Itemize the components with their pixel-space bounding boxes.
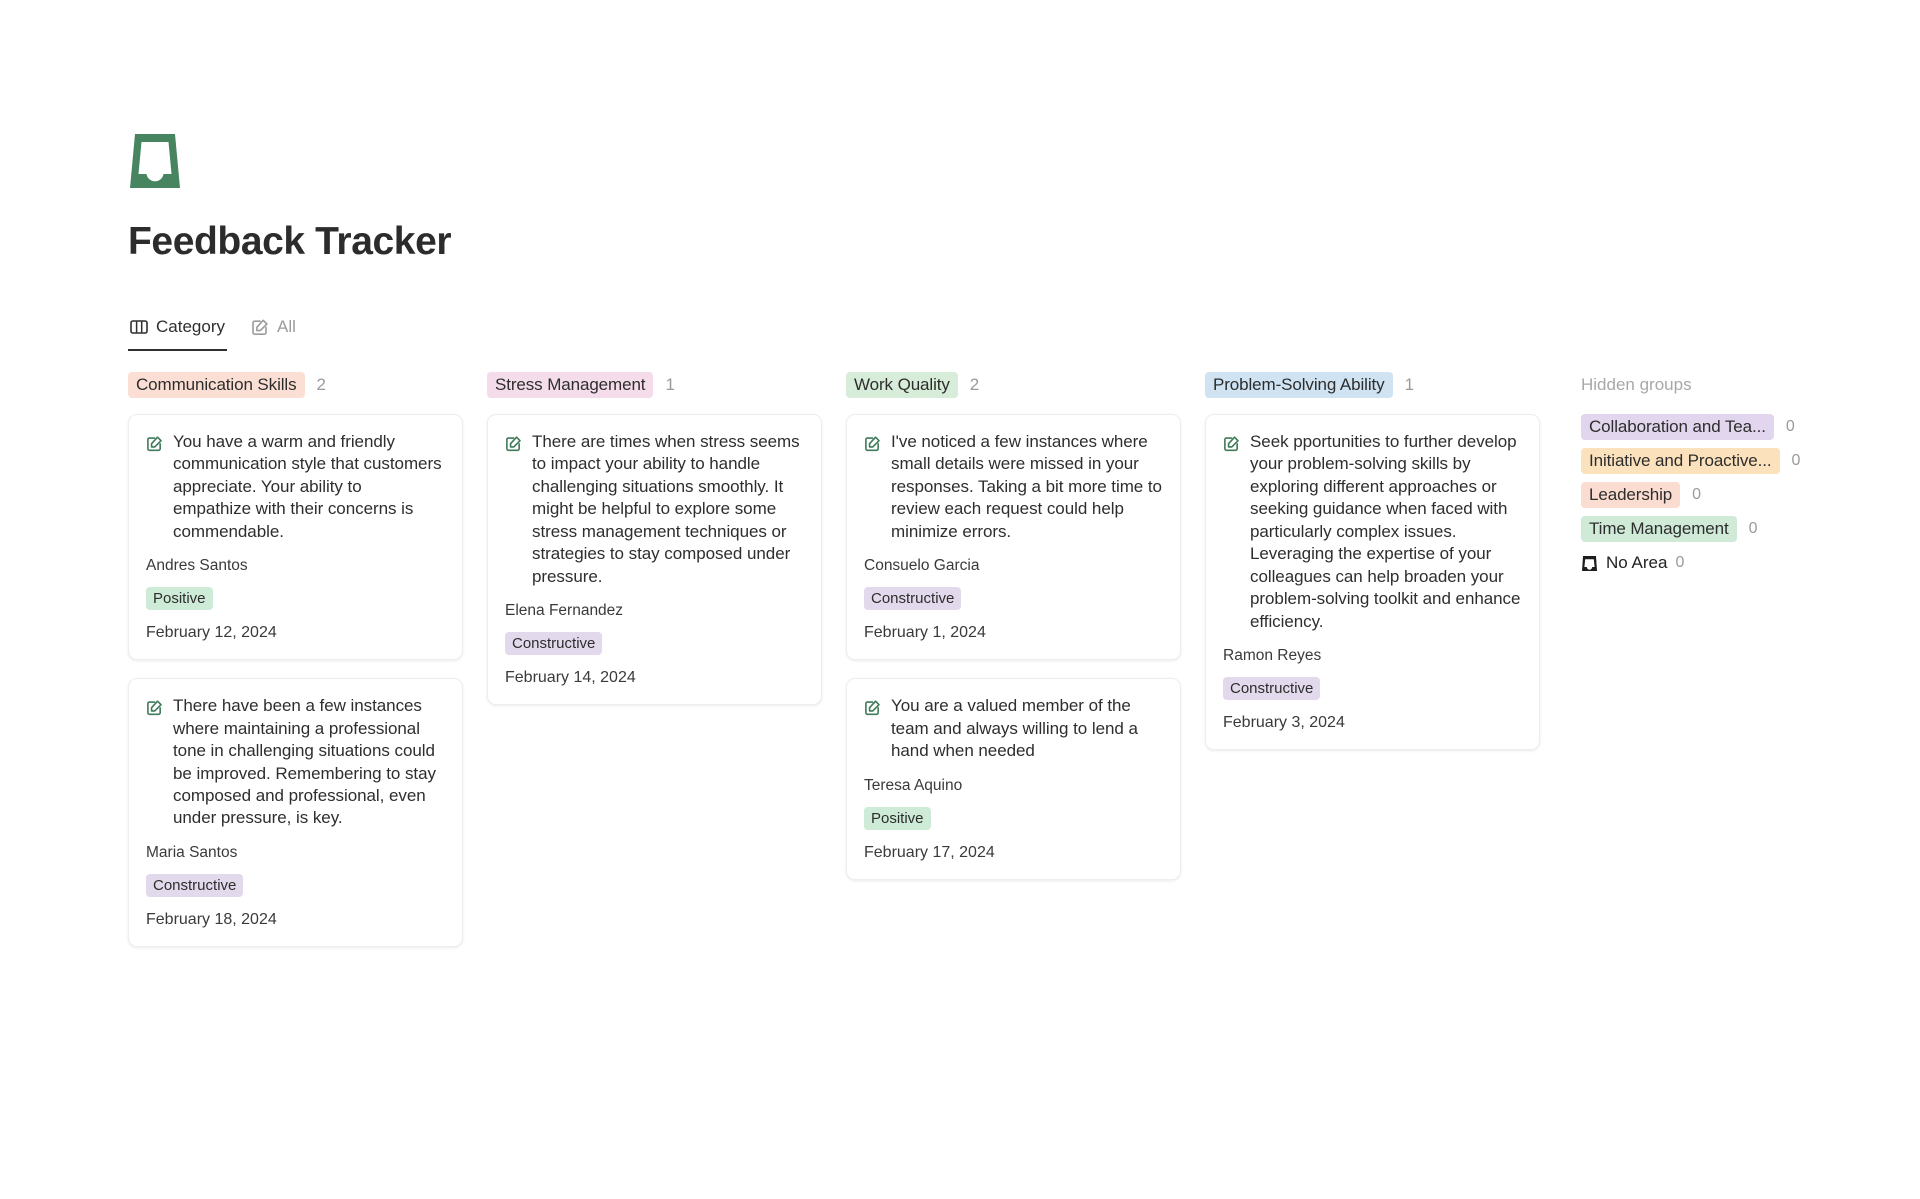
- board-column: Problem-Solving Ability1Seek pportunitie…: [1205, 372, 1540, 768]
- card-sentiment-tag: Positive: [864, 807, 931, 830]
- column-count: 1: [665, 375, 674, 395]
- feedback-card[interactable]: You have a warm and friendly communicati…: [128, 414, 463, 660]
- board-column: Work Quality2I've noticed a few instance…: [846, 372, 1181, 898]
- card-sentiment-tag: Positive: [146, 587, 213, 610]
- column-title-chip: Communication Skills: [128, 372, 305, 398]
- column-header[interactable]: Work Quality2: [846, 372, 1181, 398]
- card-sentiment-tag: Constructive: [1223, 677, 1320, 700]
- hidden-group-no-area[interactable]: No Area 0: [1581, 550, 1881, 576]
- hidden-group-chip: Leadership: [1581, 482, 1680, 508]
- hidden-group-count: 0: [1749, 520, 1758, 538]
- card-date: February 14, 2024: [505, 669, 803, 687]
- edit-square-icon: [864, 699, 881, 716]
- card-tag-row: Positive: [864, 807, 1162, 830]
- card-date: February 17, 2024: [864, 844, 1162, 862]
- board-columns-icon: [130, 318, 148, 336]
- card-tag-row: Positive: [146, 587, 444, 610]
- card-tag-row: Constructive: [146, 874, 444, 897]
- feedback-tracker-page: Feedback Tracker Category All: [0, 0, 1920, 1199]
- edit-square-icon: [251, 318, 269, 336]
- tab-category[interactable]: Category: [128, 313, 227, 351]
- card-title-row: There have been a few instances where ma…: [146, 695, 444, 830]
- card-title-row: You have a warm and friendly communicati…: [146, 431, 444, 543]
- card-person-name: Elena Fernandez: [505, 602, 803, 620]
- column-header[interactable]: Communication Skills2: [128, 372, 463, 398]
- column-count: 1: [1405, 375, 1414, 395]
- kanban-board: Communication Skills2You have a warm and…: [128, 372, 1540, 965]
- card-tag-row: Constructive: [505, 632, 803, 655]
- page-header: Feedback Tracker: [128, 130, 1828, 263]
- card-title-row: Seek pportunities to further develop you…: [1223, 431, 1521, 633]
- edit-square-icon: [146, 699, 163, 716]
- board-column: Communication Skills2You have a warm and…: [128, 372, 463, 965]
- hidden-group-count: 0: [1792, 452, 1801, 470]
- card-person-name: Teresa Aquino: [864, 777, 1162, 795]
- feedback-card[interactable]: I've noticed a few instances where small…: [846, 414, 1181, 660]
- card-person-name: Maria Santos: [146, 844, 444, 862]
- card-person-name: Ramon Reyes: [1223, 647, 1521, 665]
- column-count: 2: [970, 375, 979, 395]
- card-date: February 12, 2024: [146, 624, 444, 642]
- card-feedback-text: There are times when stress seems to imp…: [532, 431, 803, 588]
- hidden-group-chip: Collaboration and Tea...: [1581, 414, 1774, 440]
- feedback-card[interactable]: Seek pportunities to further develop you…: [1205, 414, 1540, 750]
- no-area-count: 0: [1675, 554, 1684, 572]
- page-title: Feedback Tracker: [128, 221, 1828, 263]
- edit-square-icon: [1223, 435, 1240, 452]
- column-title-chip: Work Quality: [846, 372, 958, 398]
- card-person-name: Consuelo Garcia: [864, 557, 1162, 575]
- card-date: February 18, 2024: [146, 911, 444, 929]
- card-sentiment-tag: Constructive: [505, 632, 602, 655]
- card-sentiment-tag: Constructive: [146, 874, 243, 897]
- hidden-group-count: 0: [1692, 486, 1701, 504]
- no-area-label: No Area: [1606, 553, 1667, 573]
- edit-square-icon: [864, 435, 881, 452]
- board-column: Stress Management1There are times when s…: [487, 372, 822, 723]
- hidden-group-item[interactable]: Leadership0: [1581, 482, 1881, 508]
- hidden-groups-title: Hidden groups: [1581, 372, 1881, 398]
- card-date: February 1, 2024: [864, 624, 1162, 642]
- hidden-group-item[interactable]: Collaboration and Tea...0: [1581, 414, 1881, 440]
- card-tag-row: Constructive: [864, 587, 1162, 610]
- tab-all-label: All: [277, 317, 296, 337]
- card-feedback-text: You have a warm and friendly communicati…: [173, 431, 444, 543]
- tab-category-label: Category: [156, 317, 225, 337]
- card-title-row: You are a valued member of the team and …: [864, 695, 1162, 762]
- card-feedback-text: You are a valued member of the team and …: [891, 695, 1162, 762]
- card-person-name: Andres Santos: [146, 557, 444, 575]
- edit-square-icon: [146, 435, 163, 452]
- feedback-card[interactable]: You are a valued member of the team and …: [846, 678, 1181, 879]
- card-date: February 3, 2024: [1223, 714, 1521, 732]
- hidden-group-chip: Time Management: [1581, 516, 1737, 542]
- feedback-card[interactable]: There are times when stress seems to imp…: [487, 414, 822, 705]
- card-tag-row: Constructive: [1223, 677, 1521, 700]
- edit-square-icon: [505, 435, 522, 452]
- card-title-row: I've noticed a few instances where small…: [864, 431, 1162, 543]
- inbox-tray-icon: [128, 130, 1828, 192]
- column-header[interactable]: Problem-Solving Ability1: [1205, 372, 1540, 398]
- column-header[interactable]: Stress Management1: [487, 372, 822, 398]
- card-feedback-text: Seek pportunities to further develop you…: [1250, 431, 1521, 633]
- card-feedback-text: There have been a few instances where ma…: [173, 695, 444, 830]
- tab-all[interactable]: All: [249, 313, 298, 351]
- card-feedback-text: I've noticed a few instances where small…: [891, 431, 1162, 543]
- card-sentiment-tag: Constructive: [864, 587, 961, 610]
- column-count: 2: [317, 375, 326, 395]
- hidden-group-chip: Initiative and Proactive...: [1581, 448, 1780, 474]
- hidden-groups-panel: Hidden groups Collaboration and Tea...0I…: [1581, 372, 1881, 576]
- hidden-group-item[interactable]: Time Management0: [1581, 516, 1881, 542]
- hidden-group-count: 0: [1786, 418, 1795, 436]
- view-tabs: Category All: [128, 313, 298, 351]
- inbox-tray-icon: [1581, 554, 1598, 573]
- hidden-group-item[interactable]: Initiative and Proactive...0: [1581, 448, 1881, 474]
- feedback-card[interactable]: There have been a few instances where ma…: [128, 678, 463, 947]
- card-title-row: There are times when stress seems to imp…: [505, 431, 803, 588]
- column-title-chip: Problem-Solving Ability: [1205, 372, 1393, 398]
- column-title-chip: Stress Management: [487, 372, 653, 398]
